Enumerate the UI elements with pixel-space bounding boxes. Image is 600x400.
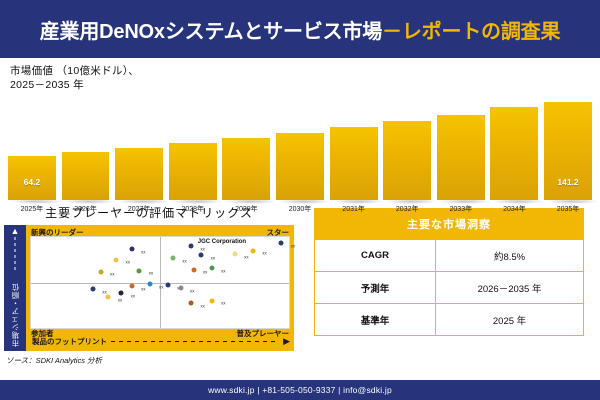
chart-subtitle-line2: 2025－2035 年 bbox=[10, 78, 139, 92]
matrix-data-point[interactable] bbox=[188, 301, 193, 306]
table-row: 予測年2026－2035 年 bbox=[315, 272, 584, 304]
matrix-data-point[interactable] bbox=[137, 268, 142, 273]
matrix-point-label: xx bbox=[141, 286, 146, 291]
source-note: ソース：SDKI Analytics 分析 bbox=[4, 351, 294, 366]
insight-key: CAGR bbox=[315, 240, 436, 272]
matrix-y-axis-label: 市場シェア・順位 bbox=[10, 283, 21, 347]
matrix-data-point[interactable] bbox=[170, 255, 175, 260]
matrix-point-label: xx bbox=[244, 255, 249, 260]
bar-column[interactable] bbox=[437, 72, 485, 200]
matrix-point-label: xx bbox=[221, 301, 226, 306]
matrix-data-point[interactable] bbox=[129, 284, 134, 289]
matrix-point-label: xx bbox=[200, 246, 205, 251]
matrix-point-label: xx bbox=[182, 258, 187, 263]
matrix-data-point[interactable] bbox=[209, 298, 214, 303]
page-header: 産業用DeNOxシステムとサービス市場－レポートの調査果 bbox=[0, 0, 600, 58]
bar-column[interactable] bbox=[222, 72, 270, 200]
x-axis-tick-label: 2035年 bbox=[544, 204, 592, 214]
bar-column[interactable]: 141.2 bbox=[544, 72, 592, 200]
matrix-point-label: xx bbox=[200, 304, 205, 309]
matrix-x-axis-label: 製品のフットプリント bbox=[32, 336, 107, 347]
matrix-data-point[interactable] bbox=[119, 291, 124, 296]
bar-column[interactable] bbox=[169, 72, 217, 200]
evaluation-matrix-panel: 主要プレーヤーの評価マトリックス ▲ 市場シェア・順位 新興のリーダー スター … bbox=[0, 200, 300, 380]
matrix-title: 主要プレーヤーの評価マトリックス bbox=[4, 202, 294, 225]
matrix-point-label: xx bbox=[102, 289, 107, 294]
bar[interactable] bbox=[115, 148, 163, 200]
page-title-accent: －レポートの調査果 bbox=[382, 21, 560, 43]
matrix-data-point[interactable] bbox=[199, 253, 204, 258]
x-axis-tick-label: 2031年 bbox=[330, 204, 378, 214]
x-axis-tick-label: 2034年 bbox=[490, 204, 538, 214]
arrow-right-icon: ▶ bbox=[283, 337, 290, 346]
table-row: 基準年2025 年 bbox=[315, 304, 584, 336]
matrix-point-label: xx bbox=[221, 268, 226, 273]
matrix-point-label: xx bbox=[203, 270, 208, 275]
matrix-plot-area[interactable]: xxxxxxxxxxxxxxxxxxxxxxxxxxxxxxxxxxxxxxxx… bbox=[30, 236, 290, 329]
matrix-data-point[interactable] bbox=[114, 257, 119, 262]
matrix-data-point[interactable] bbox=[165, 283, 170, 288]
matrix-point-label: xx bbox=[110, 272, 115, 277]
matrix-data-point[interactable] bbox=[250, 248, 255, 253]
matrix-point-label: xx bbox=[131, 294, 136, 299]
matrix-highlight-company-label: JGC Corporation bbox=[198, 239, 246, 245]
matrix-point-label: xx bbox=[190, 288, 195, 293]
market-value-chart: 市場価値 （10億米ドル）、 2025－2035 年 64.2141.2 202… bbox=[0, 58, 600, 200]
matrix-point-label: xx bbox=[262, 251, 267, 256]
matrix-point-label: xx bbox=[291, 244, 296, 249]
matrix-data-point[interactable] bbox=[147, 282, 152, 287]
bar[interactable] bbox=[169, 143, 217, 200]
insight-key: 基準年 bbox=[315, 304, 436, 336]
bar[interactable] bbox=[62, 152, 110, 200]
matrix-point-label: xx bbox=[211, 255, 216, 260]
matrix-data-point[interactable] bbox=[191, 267, 196, 272]
bar-column[interactable] bbox=[330, 72, 378, 200]
matrix-data-point[interactable] bbox=[188, 244, 193, 249]
matrix-point-label: xx bbox=[149, 271, 154, 276]
lower-section: 主要プレーヤーの評価マトリックス ▲ 市場シェア・順位 新興のリーダー スター … bbox=[0, 200, 600, 380]
matrix-wrap: ▲ 市場シェア・順位 新興のリーダー スター 参加者 普及プレーヤー xxxxx… bbox=[4, 225, 294, 351]
bar-value-label: 141.2 bbox=[557, 177, 578, 200]
insight-value: 2025 年 bbox=[436, 304, 584, 336]
matrix-data-point[interactable] bbox=[209, 265, 214, 270]
bar-column[interactable] bbox=[276, 72, 324, 200]
key-insights-panel: 主要な市場洞察 CAGR約8.5%予測年2026－2035 年基準年2025 年 bbox=[300, 200, 600, 380]
matrix-data-point[interactable] bbox=[279, 241, 284, 246]
page-footer: www.sdki.jp | +81-505-050-9337 | info@sd… bbox=[0, 380, 600, 400]
matrix-x-axis: 製品のフットプリント ▶ bbox=[26, 331, 294, 351]
table-row: CAGR約8.5% bbox=[315, 240, 584, 272]
arrow-up-icon: ▲ bbox=[11, 227, 20, 236]
bar[interactable] bbox=[222, 138, 270, 200]
bar[interactable] bbox=[383, 121, 431, 200]
chart-subtitle-line1: 市場価値 （10億米ドル）、 bbox=[10, 64, 139, 78]
bar[interactable] bbox=[437, 115, 485, 200]
x-axis-tick-label: 2032年 bbox=[383, 204, 431, 214]
matrix-point-label: xx bbox=[118, 297, 123, 302]
x-axis-tick-label: 2033年 bbox=[437, 204, 485, 214]
matrix-point-label: xx bbox=[159, 285, 164, 290]
bar-column[interactable] bbox=[490, 72, 538, 200]
matrix-data-point[interactable] bbox=[98, 269, 103, 274]
bar-column[interactable] bbox=[383, 72, 431, 200]
page-title: 産業用DeNOxシステムとサービス市場－レポートの調査果 bbox=[40, 15, 561, 44]
matrix-point-label: xx bbox=[126, 260, 131, 265]
insight-value: 約8.5% bbox=[436, 240, 584, 272]
dashed-line-icon bbox=[111, 341, 279, 342]
bar[interactable]: 64.2 bbox=[8, 156, 56, 201]
bar[interactable] bbox=[330, 127, 378, 200]
bar[interactable]: 141.2 bbox=[544, 102, 592, 200]
bar-value-label: 64.2 bbox=[24, 177, 41, 200]
bar[interactable] bbox=[490, 107, 538, 200]
matrix-data-point[interactable] bbox=[178, 285, 183, 290]
insight-value: 2026－2035 年 bbox=[436, 272, 584, 304]
bar[interactable] bbox=[276, 133, 324, 200]
matrix-data-point[interactable] bbox=[232, 252, 237, 257]
matrix-point-label: xx bbox=[141, 249, 146, 254]
matrix-y-axis: ▲ 市場シェア・順位 bbox=[4, 225, 26, 351]
insight-key: 予測年 bbox=[315, 272, 436, 304]
footer-contact[interactable]: www.sdki.jp | +81-505-050-9337 | info@sd… bbox=[208, 385, 392, 395]
quadrant-divider-horizontal bbox=[31, 283, 289, 284]
key-insights-table: 主要な市場洞察 CAGR約8.5%予測年2026－2035 年基準年2025 年 bbox=[314, 208, 584, 336]
matrix-data-point[interactable] bbox=[129, 246, 134, 251]
dashed-line-icon bbox=[15, 237, 16, 273]
chart-subtitle: 市場価値 （10億米ドル）、 2025－2035 年 bbox=[10, 64, 139, 92]
matrix-data-point[interactable] bbox=[90, 286, 95, 291]
matrix-data-point[interactable] bbox=[106, 295, 111, 300]
page-title-main: 産業用DeNOxシステムとサービス市場 bbox=[40, 21, 382, 43]
matrix-body: 新興のリーダー スター 参加者 普及プレーヤー xxxxxxxxxxxxxxxx… bbox=[26, 225, 294, 351]
